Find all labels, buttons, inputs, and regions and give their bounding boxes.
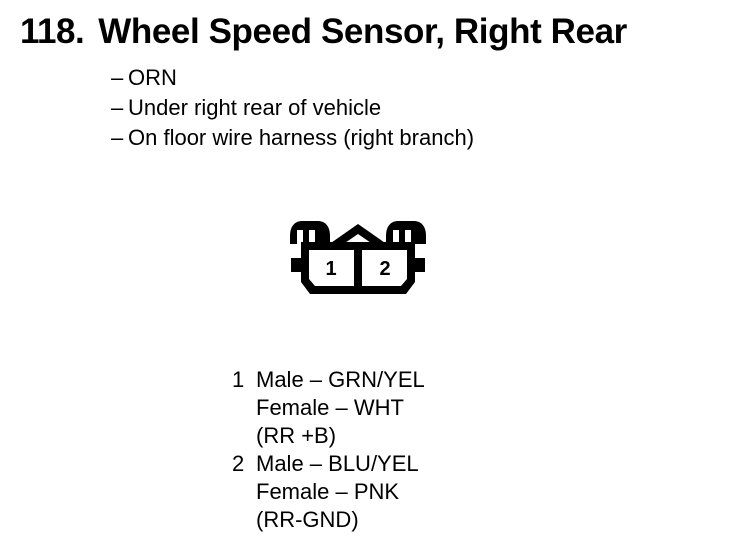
pin-detail: (RR +B) xyxy=(256,422,336,450)
pin-assignment-list: 1 Male – GRN/YEL Female – WHT (RR +B) 2 … xyxy=(232,366,532,534)
notes-list: – ORN – Under right rear of vehicle – On… xyxy=(111,63,671,153)
pin-group-1: 1 Male – GRN/YEL Female – WHT (RR +B) xyxy=(232,366,532,450)
cavity-number-2: 2 xyxy=(379,258,390,280)
pin-row: 1 Male – GRN/YEL xyxy=(232,366,532,394)
connector-diagram-page: 118. Wheel Speed Sensor, Right Rear – OR… xyxy=(0,0,752,550)
pin-row: (RR +B) xyxy=(232,422,532,450)
locking-tab-right xyxy=(386,221,426,244)
pin-row: (RR-GND) xyxy=(232,506,532,534)
pin-group-2: 2 Male – BLU/YEL Female – PNK (RR-GND) xyxy=(232,450,532,534)
note-item: – Under right rear of vehicle xyxy=(111,93,671,123)
note-label: ORN xyxy=(128,63,177,93)
note-label: On floor wire harness (right branch) xyxy=(128,123,474,153)
center-key-peak xyxy=(328,224,388,245)
connector-face-svg: 1 2 xyxy=(278,214,438,306)
pin-row: Female – WHT xyxy=(232,394,532,422)
connector-title: Wheel Speed Sensor, Right Rear xyxy=(98,12,627,52)
pin-number: 1 xyxy=(232,366,256,394)
dash-icon: – xyxy=(111,93,128,123)
page-title: 118. Wheel Speed Sensor, Right Rear xyxy=(20,12,732,52)
locking-tab-left xyxy=(290,221,330,244)
dash-icon: – xyxy=(111,63,128,93)
pin-detail: (RR-GND) xyxy=(256,506,359,534)
pin-detail: Male – GRN/YEL xyxy=(256,366,425,394)
note-item: – On floor wire harness (right branch) xyxy=(111,123,671,153)
pin-row: Female – PNK xyxy=(232,478,532,506)
connector-illustration: 1 2 xyxy=(278,214,438,306)
pin-number: 2 xyxy=(232,450,256,478)
pin-detail: Male – BLU/YEL xyxy=(256,450,419,478)
connector-number: 118. xyxy=(20,12,84,52)
pin-detail: Female – WHT xyxy=(256,394,404,422)
note-item: – ORN xyxy=(111,63,671,93)
dash-icon: – xyxy=(111,123,128,153)
pin-detail: Female – PNK xyxy=(256,478,399,506)
connector-body xyxy=(291,242,425,294)
note-label: Under right rear of vehicle xyxy=(128,93,381,123)
cavity-number-1: 1 xyxy=(325,258,336,280)
pin-row: 2 Male – BLU/YEL xyxy=(232,450,532,478)
